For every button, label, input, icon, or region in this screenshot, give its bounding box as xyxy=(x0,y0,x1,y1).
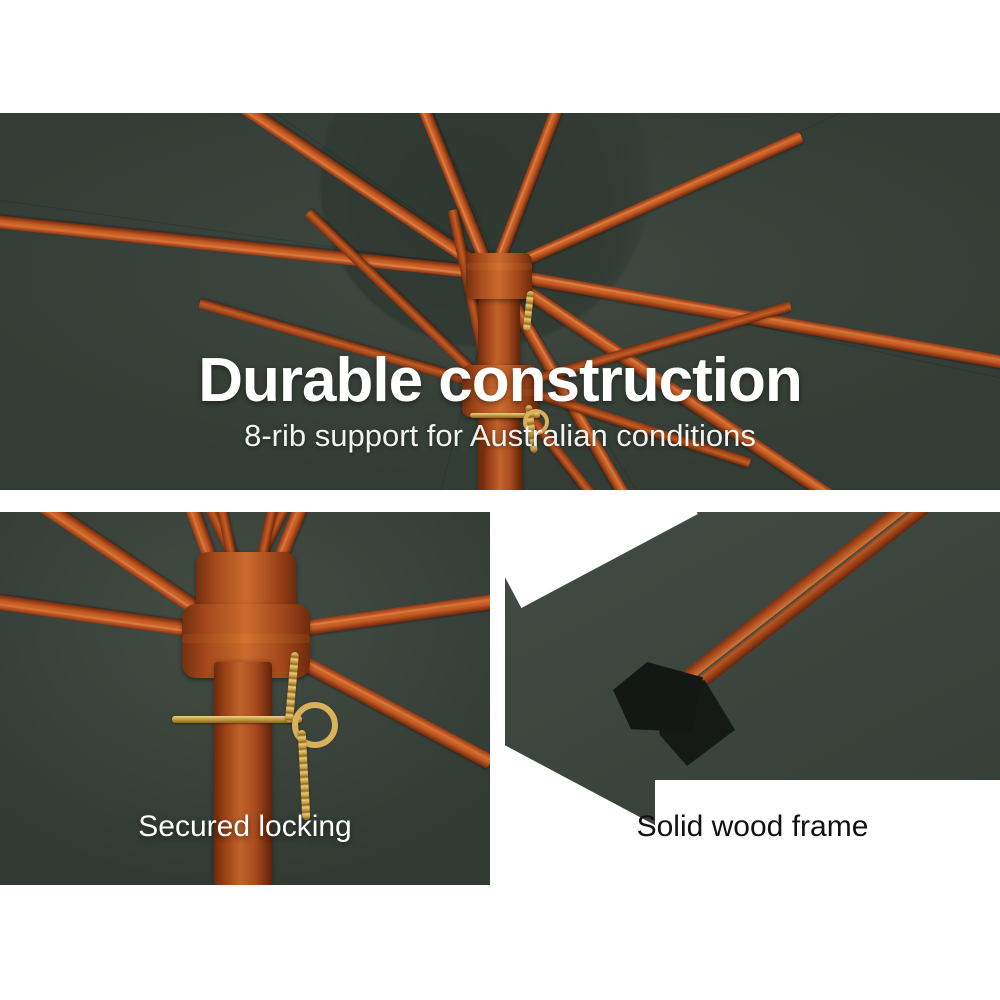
umbrella-pole xyxy=(214,662,272,885)
panel-caption-secured-locking: Secured locking xyxy=(0,810,490,844)
upper-hub xyxy=(466,253,532,299)
page-subtitle: 8-rib support for Australian conditions xyxy=(0,418,1000,454)
hero-panel: Durable construction 8-rib support for A… xyxy=(0,113,1000,490)
hub-ring xyxy=(466,263,532,270)
product-feature-collage: Durable construction 8-rib support for A… xyxy=(0,0,1000,1000)
locking-pin xyxy=(172,716,302,723)
secured-locking-panel: Secured locking xyxy=(0,512,490,885)
solid-wood-frame-panel: Solid wood frame xyxy=(505,512,1000,885)
page-title: Durable construction xyxy=(0,345,1000,416)
panel-caption-solid-wood-frame: Solid wood frame xyxy=(505,810,1000,844)
hub-ring xyxy=(182,634,310,643)
